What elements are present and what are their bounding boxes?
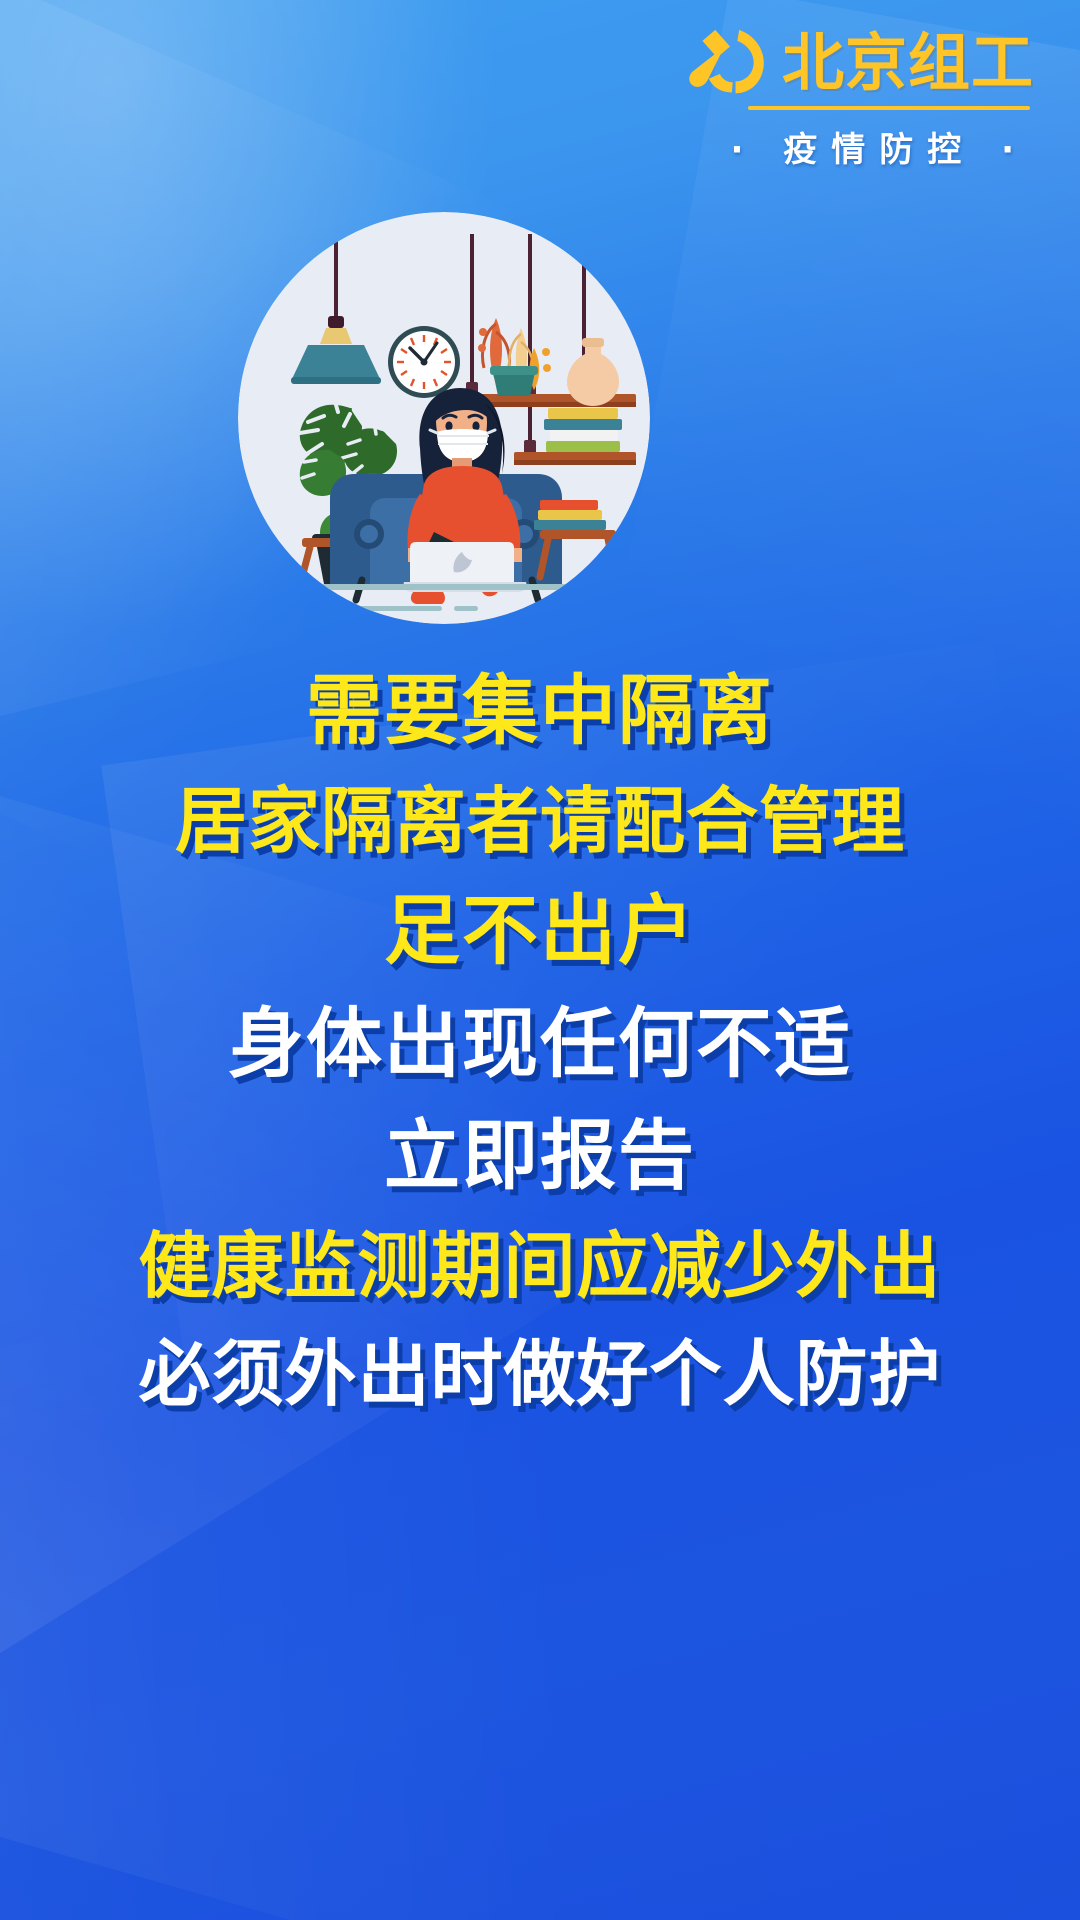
floor-book-stack-icon [534,500,606,530]
poster-canvas: 北京组工 · 疫情防控 · [0,0,1080,1920]
message-line: 需要集中隔离 [0,672,1080,750]
brand-logo: 北京组工 [564,26,1034,100]
party-hammer-sickle-emblem-icon [684,26,776,100]
message-line: 必须外出时做好个人防护 [0,1337,1080,1411]
header-subtitle: · 疫情防控 · [564,122,1034,171]
brand-name: 北京组工 [782,32,1034,94]
poster-header: 北京组工 · 疫情防控 · [564,26,1034,171]
logo-underline [748,106,1030,110]
message-list: 需要集中隔离 居家隔离者请配合管理 足不出户 身体出现任何不适 立即报告 健康监… [0,672,1080,1446]
message-line: 立即报告 [0,1117,1080,1195]
illustration-woman-working-from-home [238,212,650,624]
message-line: 足不出户 [0,892,1080,970]
wall-clock-icon [388,326,460,398]
book-stack-icon [544,408,622,452]
message-line: 健康监测期间应减少外出 [0,1229,1080,1303]
message-line: 身体出现任何不适 [0,1005,1080,1083]
message-line: 居家隔离者请配合管理 [0,784,1080,858]
